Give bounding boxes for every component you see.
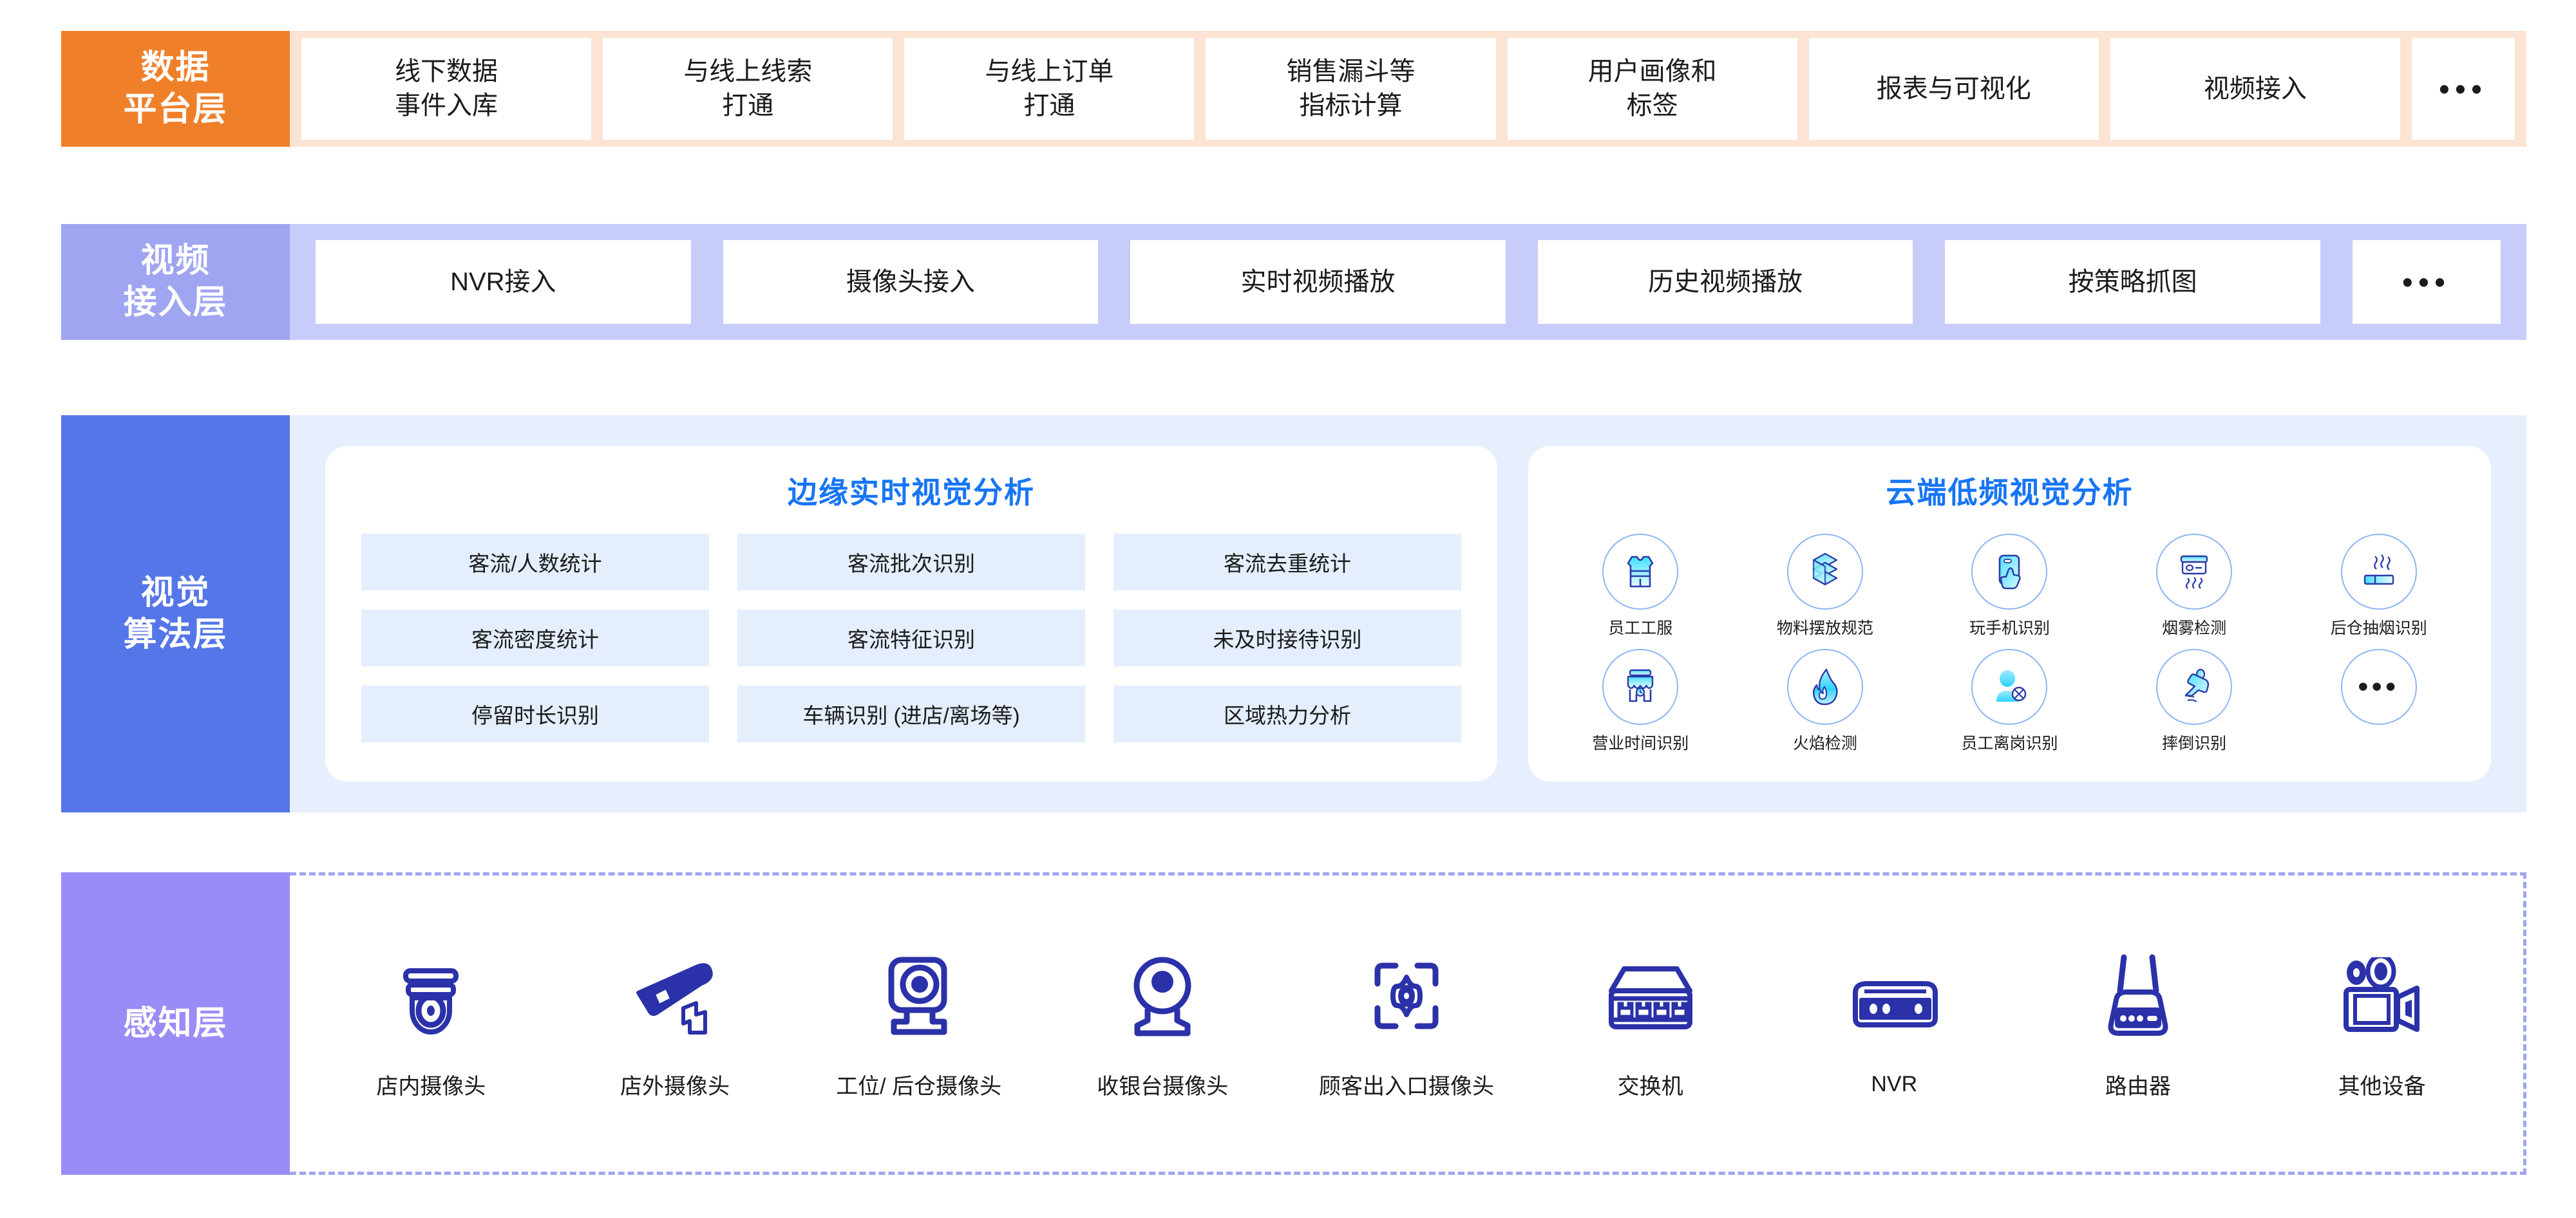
chip-line1: 视频接入 [2204,72,2307,106]
layer-body-video-access: NVR接入 摄像头接入 实时视频播放 历史视频播放 按策略抓图 ••• [290,224,2526,340]
layer-body-vision-algorithm: 边缘实时视觉分析 客流/人数统计 客流批次识别 客流去重统计 客流密度统计 客流… [290,415,2526,812]
cigarette-icon [2341,534,2417,610]
cloud-item-smoke[interactable]: 烟雾检测 [2107,534,2282,639]
layer-label-line2: 接入层 [123,282,227,324]
chip-line2: 标签 [1588,89,1717,123]
device-label: 店内摄像头 [376,1069,486,1100]
device-other[interactable]: 其他设备 [2276,948,2488,1100]
device-label: 路由器 [2105,1069,2171,1100]
dome-camera-icon [386,948,475,1044]
layer-label-line1: 视频 [123,240,227,282]
cloud-item-absent[interactable]: 员工离岗识别 [1922,649,2098,754]
layer-data-platform: 数据 平台层 线下数据 事件入库 与线上线索 打通 与线上订单 [61,31,2526,147]
chip-line2: 指标计算 [1286,89,1415,123]
vest-icon [1602,534,1678,610]
cloud-item-label: 火焰检测 [1793,731,1857,754]
cloud-item-label: 烟雾检测 [2162,615,2226,639]
device-label: 交换机 [1618,1069,1683,1100]
video-access-chip-camera[interactable]: 摄像头接入 [723,240,1099,324]
device-switch[interactable]: 交换机 [1544,948,1757,1100]
edge-algorithm-grid: 客流/人数统计 客流批次识别 客流去重统计 客流密度统计 客流特征识别 未及时接… [345,534,1478,746]
algo-cell[interactable]: 停留时长识别 [361,686,709,742]
device-label: 顾客出入口摄像头 [1319,1069,1494,1100]
data-platform-chip-7[interactable]: 视频接入 [2110,38,2400,140]
data-platform-chip-4[interactable]: 销售漏斗等 指标计算 [1206,38,1495,140]
cloud-item-label: 物料摆放规范 [1777,615,1873,639]
layer-label-line2: 算法层 [123,614,227,656]
layer-video-access: 视频 接入层 NVR接入 摄像头接入 实时视频播放 历史视频播放 按策略抓图 •… [61,224,2526,340]
data-platform-chip-6[interactable]: 报表与可视化 [1809,38,2099,140]
data-platform-chip-2[interactable]: 与线上线索 打通 [603,38,893,140]
video-access-chip-more[interactable]: ••• [2353,240,2501,324]
algo-cell[interactable]: 区域热力分析 [1113,686,1461,742]
flame-icon [1787,649,1863,725]
cloud-algorithm-grid: 员工工服 [1548,534,2472,754]
ellipsis-icon: ••• [2439,70,2487,109]
chip-line1: 报表与可视化 [1877,72,2031,106]
device-label: 其他设备 [2338,1069,2426,1100]
cloud-item-phone[interactable]: 玩手机识别 [1922,534,2098,639]
layer-body-perception: 店内摄像头 店外摄像头 [290,872,2526,1175]
chip-line1: 用户画像和 [1588,55,1717,89]
chip-line1: 销售漏斗等 [1286,55,1415,89]
cloud-item-cigarette[interactable]: 后仓抽烟识别 [2291,534,2467,639]
cloud-item-label: 员工工服 [1608,615,1672,639]
video-access-chip-history-play[interactable]: 历史视频播放 [1538,240,1913,324]
box-camera-icon [877,948,961,1044]
chip-line1: 线下数据 [395,55,498,89]
data-platform-chip-1[interactable]: 线下数据 事件入库 [301,38,591,140]
cloud-item-material[interactable]: 物料摆放规范 [1738,534,1913,639]
cloud-item-flame[interactable]: 火焰检测 [1738,649,1913,754]
bullet-camera-icon [627,948,723,1044]
device-indoor-camera[interactable]: 店内摄像头 [325,948,537,1100]
chip-line1: 与线上线索 [683,55,812,89]
video-access-chip-snapshot[interactable]: 按策略抓图 [1945,240,2320,324]
chip-line1: 与线上订单 [985,55,1113,89]
cloud-item-vest[interactable]: 员工工服 [1553,534,1728,639]
falling-person-icon [2156,649,2232,725]
layer-label-line1: 视觉 [123,572,227,614]
cloud-item-label: 后仓抽烟识别 [2331,615,2427,639]
ellipsis-icon: ••• [2341,649,2417,725]
edge-panel-title: 边缘实时视觉分析 [788,469,1035,512]
layer-label-data-platform: 数据 平台层 [61,31,290,147]
person-absent-icon [1971,649,2047,725]
architecture-diagram: 数据 平台层 线下数据 事件入库 与线上线索 打通 与线上订单 [0,0,2576,1218]
device-label: 店外摄像头 [620,1069,730,1100]
switch-icon [1602,948,1699,1044]
device-cashier-camera[interactable]: 收银台摄像头 [1056,948,1269,1100]
device-entrance-camera[interactable]: 顾客出入口摄像头 [1300,948,1513,1100]
layer-label-line2: 平台层 [123,89,227,131]
phone-hand-icon [1971,534,2047,610]
device-outdoor-camera[interactable]: 店外摄像头 [569,948,781,1100]
device-label: NVR [1871,1072,1917,1097]
layer-label-line1: 感知层 [123,1003,227,1045]
algo-cell[interactable]: 客流去重统计 [1113,534,1461,590]
chip-line2: 打通 [985,89,1113,123]
layer-body-data-platform: 线下数据 事件入库 与线上线索 打通 与线上订单 打通 销售漏斗等 [290,31,2526,147]
cloud-item-business-hours[interactable]: 营业时间识别 [1553,649,1728,754]
device-router[interactable]: 路由器 [2032,948,2244,1100]
data-platform-chip-3[interactable]: 与线上订单 打通 [904,38,1194,140]
data-platform-chip-more[interactable]: ••• [2412,38,2515,140]
cloud-item-fall[interactable]: 摔倒识别 [2107,649,2282,754]
ellipsis-icon: ••• [2402,263,2450,302]
cloud-item-label: 营业时间识别 [1592,731,1689,754]
data-platform-chip-5[interactable]: 用户画像和 标签 [1508,38,1797,140]
algo-cell[interactable]: 客流批次识别 [737,534,1085,590]
device-nvr[interactable]: NVR [1788,951,2000,1097]
chip-line2: 打通 [683,89,812,123]
layer-vision-algorithm: 视觉 算法层 边缘实时视觉分析 客流/人数统计 客流批次识别 客流去重统计 客流… [61,415,2526,812]
cloud-item-label: 员工离岗识别 [1961,731,2058,754]
webcam-icon [1122,948,1203,1044]
chip-line2: 事件入库 [395,89,498,123]
cloud-item-label: 玩手机识别 [1969,615,2050,639]
cloud-item-more[interactable]: ••• [2291,649,2467,754]
algo-cell[interactable]: 车辆识别 (进店/离场等) [737,686,1085,742]
router-icon [2094,948,2182,1044]
focus-camera-icon [1363,948,1450,1044]
device-label: 工位/ 后仓摄像头 [836,1069,1001,1100]
edge-analysis-panel: 边缘实时视觉分析 客流/人数统计 客流批次识别 客流去重统计 客流密度统计 客流… [325,446,1497,782]
layer-perception: 感知层 店内摄像头 [61,872,2526,1175]
algo-cell[interactable]: 客流特征识别 [737,610,1085,666]
shop-clock-icon [1602,649,1678,725]
algo-cell[interactable]: 客流/人数统计 [361,534,709,590]
algo-cell[interactable]: 客流密度统计 [361,610,709,666]
nvr-icon [1845,951,1943,1047]
cloud-panel-title: 云端低频视觉分析 [1886,469,2134,512]
layer-label-line1: 数据 [123,47,227,89]
cloud-analysis-panel: 云端低频视觉分析 [1528,446,2491,782]
smoke-detector-icon [2156,534,2232,610]
video-access-chip-live-play[interactable]: 实时视频播放 [1130,240,1506,324]
algo-cell[interactable]: 未及时接待识别 [1113,610,1461,666]
layer-label-vision-algorithm: 视觉 算法层 [61,415,290,812]
stacked-boxes-icon [1787,534,1863,610]
device-workstation-camera[interactable]: 工位/ 后仓摄像头 [813,948,1025,1100]
layer-label-perception: 感知层 [61,872,290,1175]
video-camera-icon [2338,948,2426,1044]
video-access-chip-nvr[interactable]: NVR接入 [316,240,691,324]
layer-label-video-access: 视频 接入层 [61,224,290,340]
device-label: 收银台摄像头 [1097,1069,1228,1100]
cloud-item-label: 摔倒识别 [2162,731,2226,754]
